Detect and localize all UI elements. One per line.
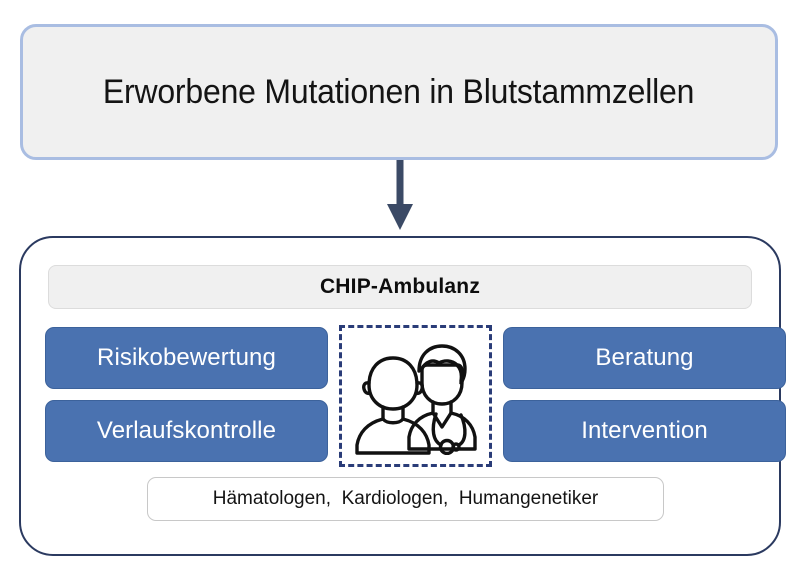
service-button-risikobewertung[interactable]: Risikobewertung xyxy=(45,327,328,389)
team-icon-frame xyxy=(339,325,492,467)
service-button-beratung[interactable]: Beratung xyxy=(503,327,786,389)
service-button-label: Beratung xyxy=(595,344,693,372)
clinic-header: CHIP-Ambulanz xyxy=(48,265,752,309)
specialists-text: Hämatologen, Kardiologen, Humangenetiker xyxy=(213,488,599,510)
down-arrow-icon xyxy=(385,160,415,232)
service-button-intervention[interactable]: Intervention xyxy=(503,400,786,462)
specialists-box: Hämatologen, Kardiologen, Humangenetiker xyxy=(147,477,664,521)
service-button-label: Risikobewertung xyxy=(97,344,276,372)
headline-title: Erworbene Mutationen in Blutstammzellen xyxy=(103,73,694,112)
clinic-header-title: CHIP-Ambulanz xyxy=(320,275,480,299)
service-button-label: Intervention xyxy=(581,417,708,445)
headline-box: Erworbene Mutationen in Blutstammzellen xyxy=(20,24,778,160)
service-button-verlaufskontrolle[interactable]: Verlaufskontrolle xyxy=(45,400,328,462)
doctor-and-patient-icon xyxy=(351,337,481,455)
service-button-label: Verlaufskontrolle xyxy=(97,417,276,445)
